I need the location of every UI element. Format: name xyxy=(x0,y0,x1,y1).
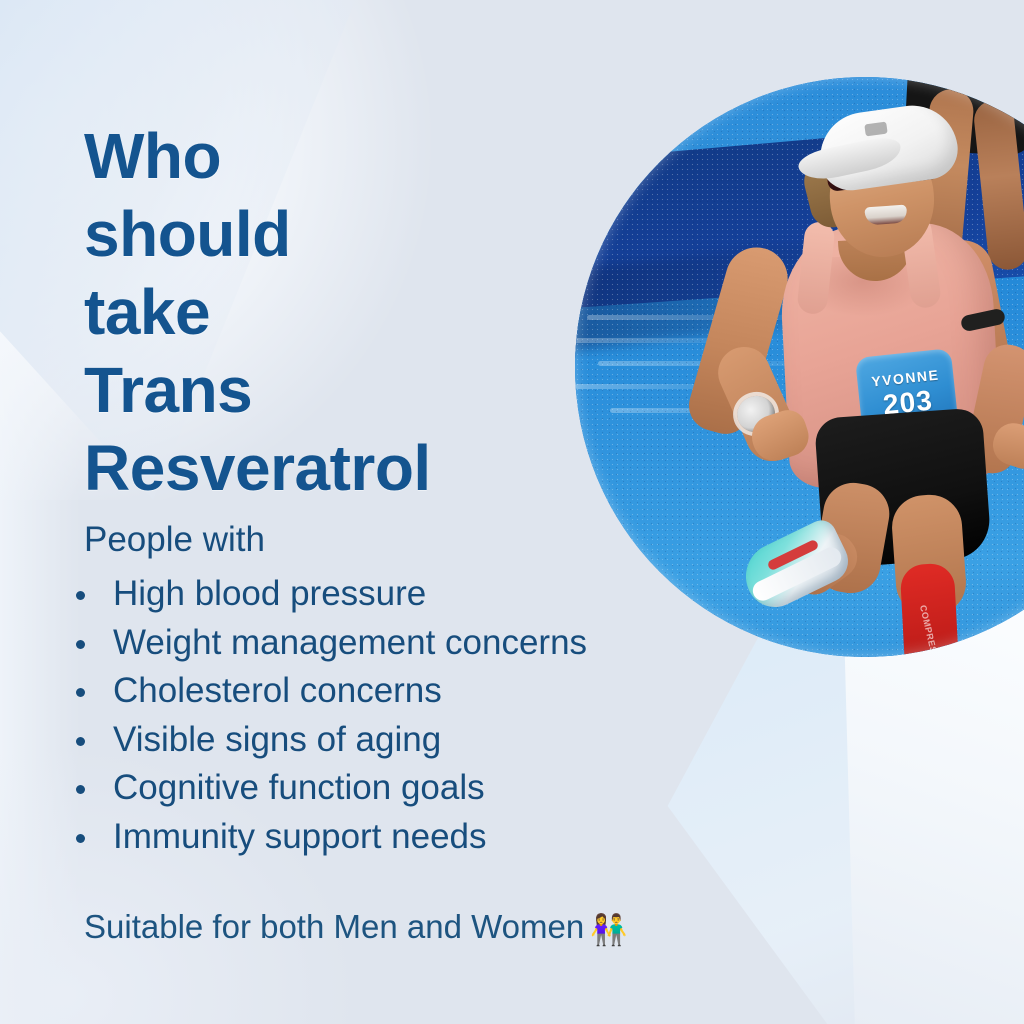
benefits-list: High blood pressure Weight management co… xyxy=(72,570,762,861)
list-item: Cognitive function goals xyxy=(72,764,762,813)
background-left-band xyxy=(0,0,80,1024)
headline-line-2: should xyxy=(84,195,554,273)
list-item-label: Immunity support needs xyxy=(113,817,487,856)
suitability-note-label: Suitable for both Men and Women xyxy=(84,908,584,945)
list-item: Immunity support needs xyxy=(72,813,762,862)
man-and-woman-holding-hands-icon: 👫 xyxy=(590,914,627,947)
headline-line-1: Who xyxy=(84,117,554,195)
runner-compression-calf-sleeve: COMPRESSPORT xyxy=(899,563,960,657)
list-item: Visible signs of aging xyxy=(72,716,762,765)
list-item: Weight management concerns xyxy=(72,619,762,668)
poster-canvas: #ISC2024 xyxy=(0,0,1024,1024)
list-item-label: Visible signs of aging xyxy=(113,720,441,759)
list-intro-label: People with xyxy=(84,518,265,562)
bullet-icon xyxy=(76,640,85,649)
bullet-icon xyxy=(76,688,85,697)
bullet-icon xyxy=(76,785,85,794)
headline-line-4: Trans xyxy=(84,351,554,429)
list-item: High blood pressure xyxy=(72,570,762,619)
bullet-icon xyxy=(76,591,85,600)
list-item-label: Cholesterol concerns xyxy=(113,671,442,710)
page-title: Who should take Trans Resveratrol xyxy=(84,117,554,507)
bullet-icon xyxy=(76,834,85,843)
list-item-label: High blood pressure xyxy=(113,574,426,613)
calf-sleeve-brand-text: COMPRESSPORT xyxy=(918,604,946,657)
bullet-icon xyxy=(76,737,85,746)
list-item-label: Weight management concerns xyxy=(113,623,587,662)
list-item: Cholesterol concerns xyxy=(72,667,762,716)
headline-line-3: take xyxy=(84,273,554,351)
list-item-label: Cognitive function goals xyxy=(113,768,485,807)
background-right-panel xyxy=(844,600,1024,1024)
headline-line-5: Resveratrol xyxy=(84,429,554,507)
suitability-note: Suitable for both Men and Women👫 xyxy=(84,905,628,953)
